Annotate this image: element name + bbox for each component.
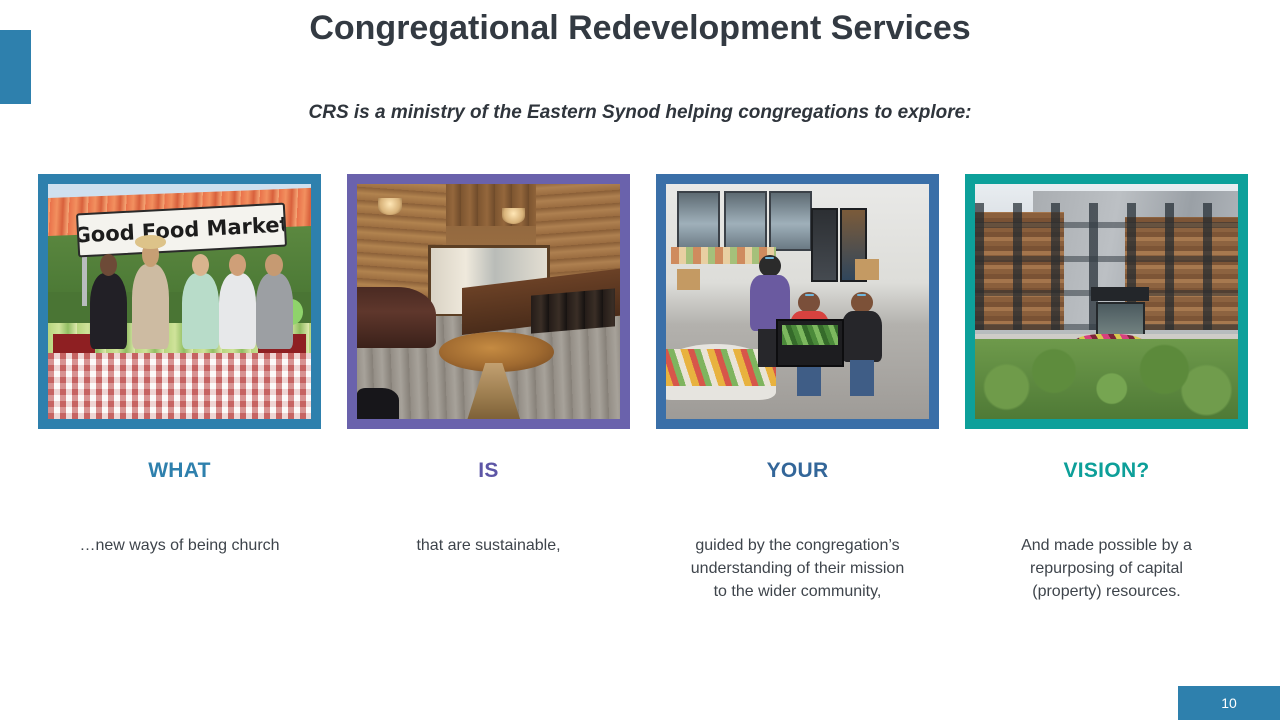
garden-shrubs	[975, 339, 1238, 419]
content-column-is: IS that are sustainable,	[347, 174, 630, 429]
good-food-market-photo: Good Food Market	[48, 184, 311, 419]
content-column-your: YOUR guided by the congregation’s unders…	[656, 174, 939, 429]
face-mask	[765, 257, 774, 259]
content-columns: Good Food Market WHAT …new ways of being…	[0, 174, 1280, 634]
column-body-your: guided by the congregation’s understandi…	[656, 534, 939, 603]
page-number-badge: 10	[1178, 686, 1280, 720]
face-mask	[857, 294, 866, 295]
person-head	[229, 254, 247, 277]
vendor-person-3	[182, 273, 219, 348]
wall-panel-dark	[811, 208, 839, 283]
page-subtitle: CRS is a ministry of the Eastern Synod h…	[0, 99, 1280, 127]
person-head	[192, 254, 210, 277]
content-column-what: Good Food Market WHAT …new ways of being…	[38, 174, 321, 429]
pendant-lamp-2	[502, 208, 526, 224]
produce-crate	[776, 319, 843, 368]
column-body-vision: And made possible by a repurposing of ca…	[965, 534, 1248, 603]
stacked-chairs	[531, 288, 615, 333]
image-frame-2	[347, 174, 630, 429]
food-bank-volunteers-photo	[666, 184, 929, 419]
window-3	[769, 191, 812, 251]
image-frame-4	[965, 174, 1248, 429]
column-heading-your: YOUR	[656, 458, 939, 484]
pendant-lamp-1	[378, 198, 402, 214]
person-legs	[850, 360, 874, 395]
window-2	[724, 191, 767, 251]
person-head	[851, 292, 873, 313]
affordable-housing-building-photo	[975, 184, 1238, 419]
column-body-what: …new ways of being church	[38, 534, 321, 557]
person-head	[100, 254, 118, 277]
vendor-person-4	[219, 273, 256, 348]
black-bag	[357, 388, 399, 419]
person-body	[842, 311, 881, 363]
column-heading-what: WHAT	[38, 458, 321, 484]
column-body-is: that are sustainable,	[347, 534, 630, 557]
content-column-vision: VISION? And made possible by a repurposi…	[965, 174, 1248, 429]
cardboard-box-2	[855, 259, 879, 280]
image-frame-1: Good Food Market	[38, 174, 321, 429]
person-head	[798, 292, 820, 313]
vendor-person-2	[132, 264, 169, 349]
image-frame-3	[656, 174, 939, 429]
wood-interior-hall-photo	[357, 184, 620, 419]
vendor-person-5	[256, 273, 293, 348]
window-1	[677, 191, 720, 251]
entrance-canopy	[1091, 287, 1149, 301]
column-heading-vision: VISION?	[965, 458, 1248, 484]
straw-hat	[135, 235, 166, 249]
column-heading-is: IS	[347, 458, 630, 484]
volunteer-3	[842, 292, 881, 395]
person-head	[265, 254, 283, 277]
curved-counter	[357, 287, 436, 348]
cardboard-box-1	[677, 269, 701, 290]
checkered-tablecloth	[48, 353, 311, 419]
person-head	[759, 255, 781, 278]
face-mask	[805, 294, 814, 295]
vendor-person-1	[90, 273, 127, 348]
page-title: Congregational Redevelopment Services	[0, 6, 1280, 50]
